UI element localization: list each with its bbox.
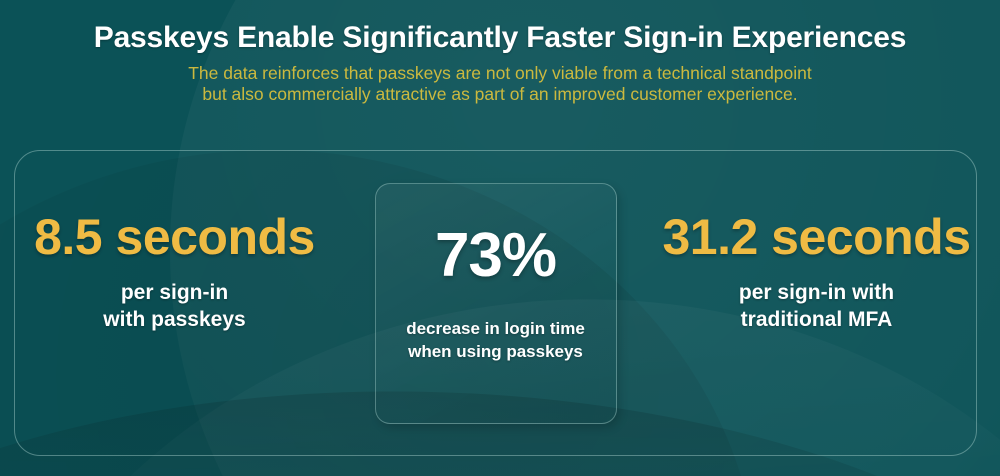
stat-caption-decrease-line-2: when using passkeys bbox=[406, 340, 585, 363]
page-subtitle-line-1: The data reinforces that passkeys are no… bbox=[0, 63, 1000, 84]
page-title: Passkeys Enable Significantly Faster Sig… bbox=[0, 0, 1000, 55]
stats-row: 8.5 seconds per sign-in with passkeys 73… bbox=[14, 150, 977, 456]
stat-block-passkeys: 8.5 seconds per sign-in with passkeys bbox=[14, 150, 335, 456]
stat-caption-passkeys-line-2: with passkeys bbox=[103, 306, 245, 333]
stat-caption-passkeys: per sign-in with passkeys bbox=[103, 279, 245, 333]
highlight-card-decrease: 73% decrease in login time when using pa… bbox=[375, 183, 617, 424]
stat-block-decrease: 73% decrease in login time when using pa… bbox=[335, 150, 656, 456]
stat-caption-passkeys-line-1: per sign-in bbox=[103, 279, 245, 306]
stat-value-mfa: 31.2 seconds bbox=[662, 212, 970, 263]
stat-value-decrease: 73% bbox=[435, 225, 556, 287]
page-subtitle-line-2: but also commercially attractive as part… bbox=[0, 84, 1000, 105]
stat-caption-decrease-line-1: decrease in login time bbox=[406, 317, 585, 340]
slide-header: Passkeys Enable Significantly Faster Sig… bbox=[0, 0, 1000, 105]
stat-caption-mfa: per sign-in with traditional MFA bbox=[739, 279, 894, 333]
stat-caption-decrease: decrease in login time when using passke… bbox=[406, 317, 585, 363]
stat-caption-mfa-line-2: traditional MFA bbox=[739, 306, 894, 333]
page-subtitle: The data reinforces that passkeys are no… bbox=[0, 55, 1000, 105]
slide-root: Passkeys Enable Significantly Faster Sig… bbox=[0, 0, 1000, 476]
stat-block-mfa: 31.2 seconds per sign-in with traditiona… bbox=[656, 150, 977, 456]
stat-caption-mfa-line-1: per sign-in with bbox=[739, 279, 894, 306]
stat-value-passkeys: 8.5 seconds bbox=[34, 212, 315, 263]
